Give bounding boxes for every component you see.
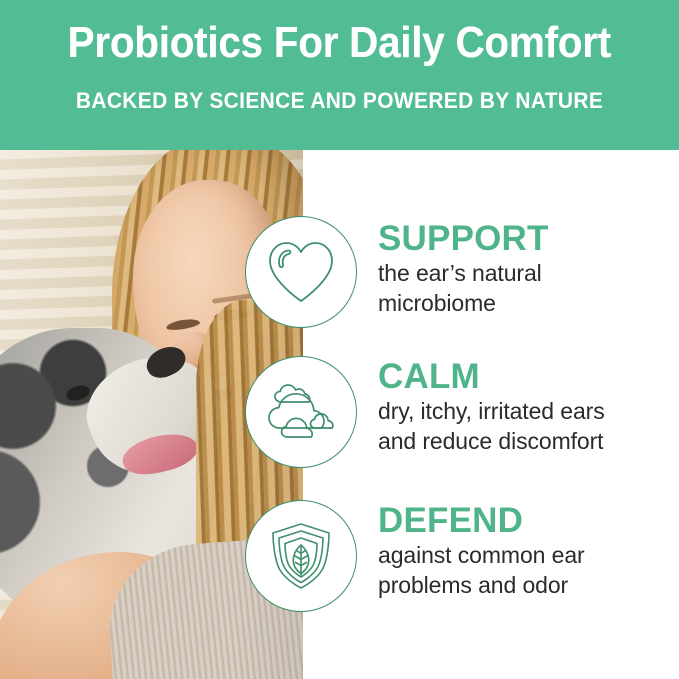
feature-body-calm-line2: and reduce discomfort [378,426,670,456]
clouds-icon [263,381,339,443]
feature-heading-defend: DEFEND [378,502,670,540]
heart-icon [264,238,338,306]
feature-body-calm-line1: dry, itchy, irritated ears [378,396,670,426]
product-infographic: Probiotics For Daily Comfort BACKED BY S… [0,0,679,679]
page-title: Probiotics For Daily Comfort [68,18,611,68]
feature-body-support-line2: microbiome [378,288,670,318]
shield-leaf-icon [265,520,337,592]
header-banner: Probiotics For Daily Comfort BACKED BY S… [0,0,679,150]
feature-row-support: SUPPORT the ear’s natural microbiome [0,216,679,366]
feature-text-calm: CALM dry, itchy, irritated ears and redu… [378,358,670,456]
clouds-icon-badge [245,356,357,468]
feature-body-support-line1: the ear’s natural [378,258,670,288]
heart-icon-badge [245,216,357,328]
feature-text-defend: DEFEND against common ear problems and o… [378,502,670,600]
feature-body-defend-line2: problems and odor [378,570,670,600]
feature-heading-support: SUPPORT [378,220,670,258]
feature-row-defend: DEFEND against common ear problems and o… [0,500,679,650]
feature-row-calm: CALM dry, itchy, irritated ears and redu… [0,356,679,506]
feature-body-defend-line1: against common ear [378,540,670,570]
feature-list: SUPPORT the ear’s natural microbiome [0,150,679,679]
feature-text-support: SUPPORT the ear’s natural microbiome [378,220,670,318]
feature-heading-calm: CALM [378,358,670,396]
header-subtitle: BACKED BY SCIENCE AND POWERED BY NATURE [76,68,603,114]
shield-leaf-icon-badge [245,500,357,612]
